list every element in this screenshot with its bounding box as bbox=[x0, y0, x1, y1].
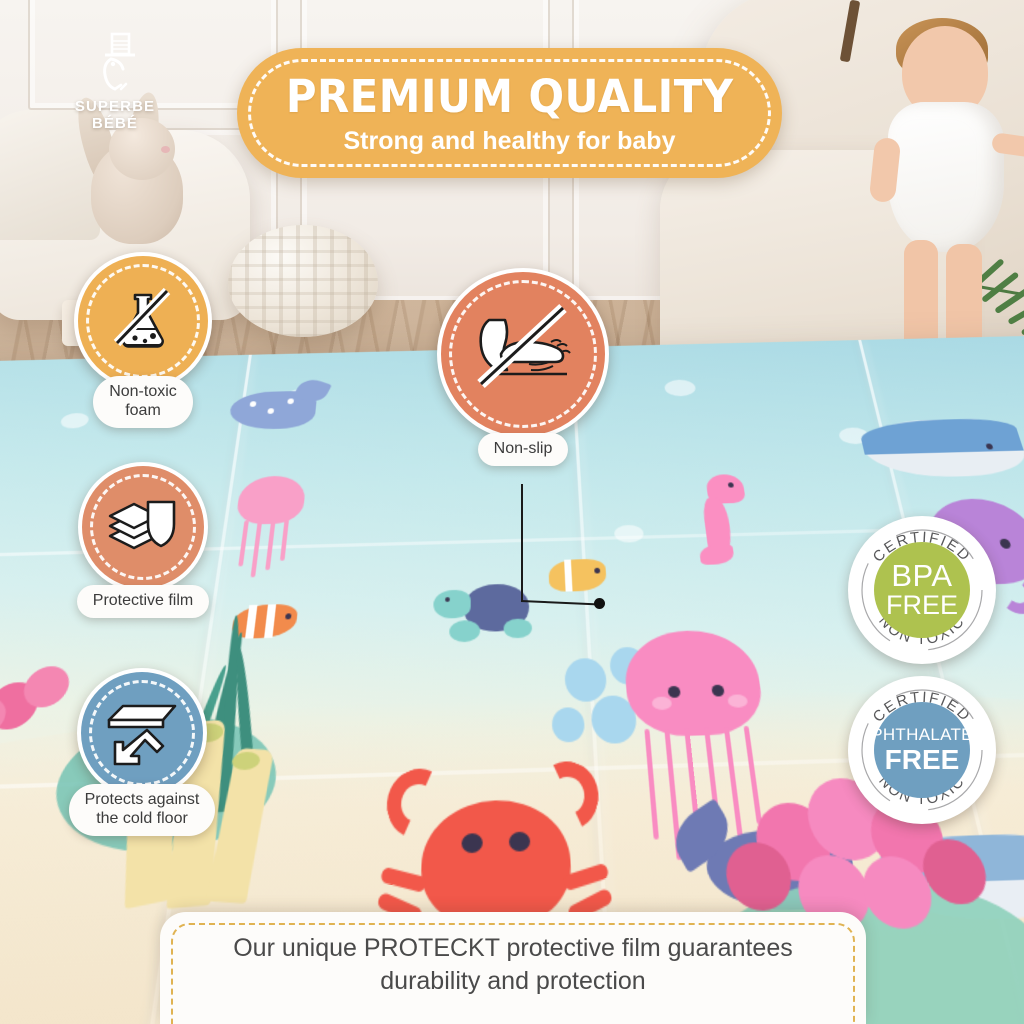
logo-text-line2: BÉBÉ bbox=[55, 115, 175, 132]
callout-endpoint-dot bbox=[594, 598, 605, 609]
badge-circle-non-slip bbox=[437, 268, 609, 440]
badge-cold-floor[interactable]: Protects against the cold floor bbox=[44, 668, 240, 836]
seal-phthalate-free: CERTIFIED NON TOXIC PHTHALATE FREE bbox=[848, 676, 996, 824]
banner-subtitle: Strong and healthy for baby bbox=[344, 127, 676, 156]
badge-non-toxic-foam[interactable]: Non-toxic foam bbox=[48, 252, 238, 428]
product-marketing-image: SUPERBE BÉBÉ PREMIUM QUALITY Strong and … bbox=[0, 0, 1024, 1024]
mat-arrow-insulation-icon bbox=[101, 694, 183, 772]
seal-line1-phthalate: PHTHALATE bbox=[871, 726, 973, 745]
badge-label-non-toxic-foam: Non-toxic foam bbox=[93, 376, 193, 428]
banner-title: PREMIUM QUALITY bbox=[286, 70, 734, 123]
logo-text-line1: SUPERBE bbox=[55, 98, 175, 115]
penguin-tophat-icon bbox=[85, 32, 145, 94]
crossed-out-slipping-foot-icon bbox=[467, 302, 579, 406]
seal-inner-phthalate: PHTHALATE FREE bbox=[874, 702, 970, 798]
badge-circle-cold-floor bbox=[77, 668, 207, 798]
seal-bpa-free: CERTIFIED NON TOXIC BPA FREE bbox=[848, 516, 996, 664]
seal-inner-bpa: BPA FREE bbox=[874, 542, 970, 638]
badge-label-cold-floor: Protects against the cold floor bbox=[69, 784, 216, 836]
callout-line-vertical bbox=[521, 484, 523, 602]
brand-logo: SUPERBE BÉBÉ bbox=[55, 32, 175, 150]
badge-non-slip[interactable]: Non-slip bbox=[428, 268, 618, 466]
badge-circle-protective-film bbox=[78, 462, 208, 592]
seal-line1-bpa: BPA bbox=[891, 560, 952, 591]
badge-circle-non-toxic-foam bbox=[74, 252, 212, 390]
layers-shield-icon bbox=[104, 492, 182, 562]
caption-text: Our unique PROTECKT protective film guar… bbox=[160, 932, 866, 998]
badge-label-non-slip: Non-slip bbox=[478, 433, 569, 466]
seal-line2-phthalate: FREE bbox=[885, 745, 960, 774]
premium-quality-banner: PREMIUM QUALITY Strong and healthy for b… bbox=[237, 48, 782, 178]
bottom-caption-banner: Our unique PROTECKT protective film guar… bbox=[160, 912, 866, 1024]
knitted-pouf bbox=[228, 225, 378, 337]
badge-protective-film[interactable]: Protective film bbox=[48, 462, 238, 618]
seal-line2-bpa: FREE bbox=[886, 591, 958, 619]
badge-label-protective-film: Protective film bbox=[77, 585, 209, 618]
crossed-out-flask-icon bbox=[103, 281, 183, 361]
